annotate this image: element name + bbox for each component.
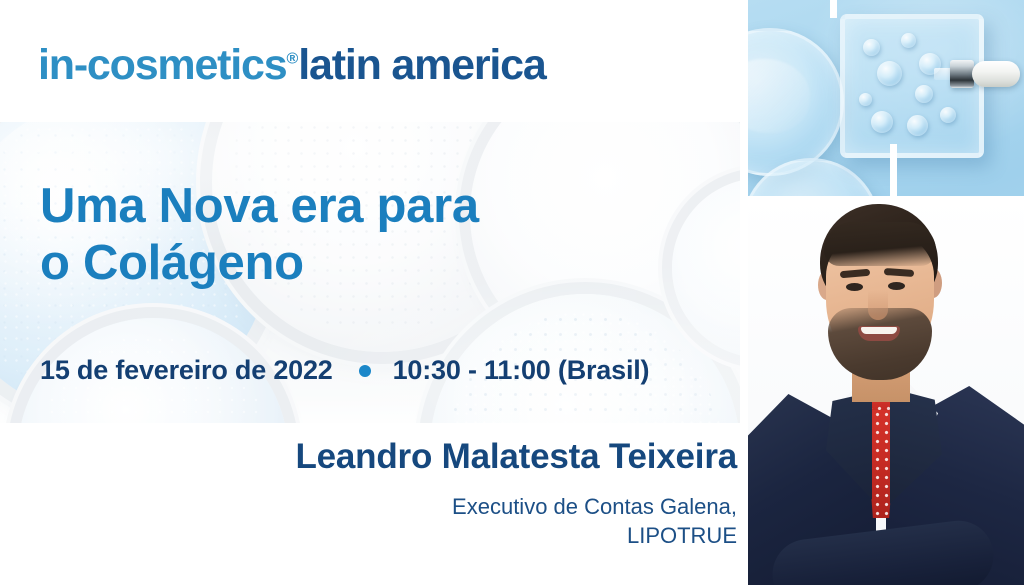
dropper-metal-collar (950, 60, 974, 88)
gel-droplet (907, 115, 928, 136)
gel-droplet (871, 111, 893, 133)
speaker-role: Executivo de Contas Galena, LIPOTRUE (97, 492, 737, 550)
portrait-mouth (858, 326, 900, 341)
gel-droplet (940, 107, 956, 123)
petri-dish-icon (748, 28, 844, 176)
bullet-separator-icon (359, 365, 371, 377)
page-title: Uma Nova era para o Colágeno (40, 178, 700, 292)
event-logo: in-cosmetics®latin america (38, 44, 546, 87)
photo-divider-strip-top (830, 0, 837, 18)
speaker-name: Leandro Malatesta Teixeira (97, 437, 737, 477)
speaker-portrait-photo (748, 196, 1024, 585)
event-datetime: 15 de fevereiro de 2022 10:30 - 11:00 (B… (40, 355, 649, 386)
dropper-bulb-icon (972, 61, 1020, 87)
webinar-promo-banner: in-cosmetics®latin america Uma Nova era … (0, 0, 1024, 585)
registered-trademark-icon: ® (286, 51, 298, 68)
event-time: 10:30 - 11:00 (Brasil) (393, 355, 650, 386)
gel-droplet (915, 85, 933, 103)
gel-droplet (863, 39, 880, 56)
speaker-role-line-2: LIPOTRUE (97, 521, 737, 550)
portrait-teeth (861, 327, 897, 334)
speaker-role-line-1: Executivo de Contas Galena, (97, 492, 737, 521)
event-date: 15 de fevereiro de 2022 (40, 355, 333, 386)
gel-droplet (877, 61, 902, 86)
portrait-hairline (824, 222, 936, 266)
logo-primary-text: in-cosmetics (38, 41, 286, 89)
logo-secondary-text: latin america (298, 41, 545, 89)
portrait-eye-left (846, 283, 863, 291)
right-image-column (748, 0, 1024, 585)
gel-droplet (901, 33, 916, 48)
headline-line-2: o Colágeno (40, 235, 700, 292)
portrait-nose (868, 290, 888, 320)
portrait-eye-right (888, 282, 905, 290)
headline-line-1: Uma Nova era para (40, 178, 700, 235)
left-content-column: in-cosmetics®latin america Uma Nova era … (0, 0, 748, 585)
gel-droplet (859, 93, 872, 106)
